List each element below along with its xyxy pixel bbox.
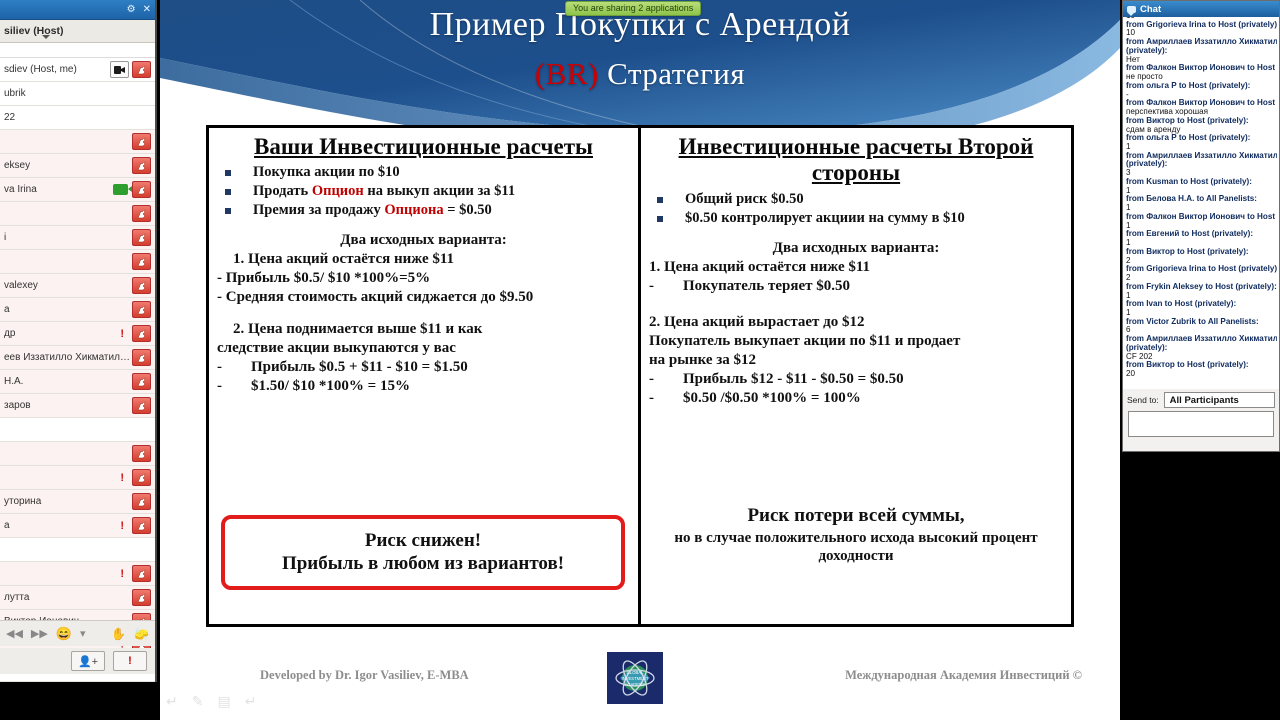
chat-message-from: from Фалкон Виктор Ионович to Host (pri [1126,99,1277,108]
chat-message-from: from Амриллаев Иззатилло Хикматиллое [1126,152,1277,161]
participant-row[interactable]: eksey [0,154,155,178]
chat-message-from: from Ivan to Host (privately): [1126,300,1277,309]
participant-row[interactable]: sdiev (Host, me) [0,58,155,82]
right-variant2-title-a: 2. Цена акций вырастает до $12 [649,313,1063,331]
chat-message-from: from Kusman to Host (privately): [1126,178,1277,187]
alert-button[interactable]: ! [113,651,147,671]
text-icon[interactable]: ▤ [217,693,230,710]
chat-message-from: from Фалкон Виктор Ионович to Host (pri [1126,213,1277,222]
participant-row[interactable] [0,538,155,562]
slide-footer: Developed by Dr. Igor Vasiliev, E-MBA GL… [160,642,1120,702]
raise-hand-icon[interactable] [132,517,151,534]
chat-title: Chat [1140,4,1161,15]
raise-hand-icon[interactable] [132,589,151,606]
left-variant2-line-1-text: $1.50/ $10 *100% = 15% [251,377,410,395]
left-variant1-title: 1. Цена акций остаётся ниже $11 [217,250,630,268]
chat-message-text: 10 [1126,29,1277,38]
dash-marker: - [217,377,251,395]
raise-hand-icon[interactable] [132,277,151,294]
chat-send-to-row: Send to: All Participants [1123,389,1279,411]
chat-message-text: 1 [1126,222,1277,231]
chat-message-from-cont: (privately): [1126,344,1277,353]
chat-message-log[interactable]: 10from Grigorieva Irina to Host (private… [1123,17,1279,389]
chat-message-from: from Виктор to Host (privately): [1126,117,1277,126]
participant-row[interactable]: i [0,226,155,250]
participant-row[interactable] [0,442,155,466]
participant-name: ubrik [4,88,155,99]
bullet-item: Общий риск $0.50 [649,191,1063,208]
send-to-label: Send to: [1127,395,1159,405]
right-variant2-title-c: на рынке за $12 [649,351,1063,369]
right-variant1-line-0: - Покупатель теряет $0.50 [649,277,1063,295]
participant-row[interactable]: a [0,298,155,322]
emoji-caret-icon[interactable]: ▾ [80,627,86,640]
participant-row[interactable] [0,130,155,154]
chat-message-from: from Амриллаев Иззатилло Хикматиллое [1126,335,1277,344]
chat-input[interactable] [1128,411,1274,437]
participant-row[interactable]: еев Иззатилло Хикматил… [0,346,155,370]
bullet-square-icon [225,208,231,214]
chat-message-from: from Grigorieva Irina to Host (privately… [1126,21,1277,30]
raise-hand-icon[interactable] [132,469,151,486]
bullet-item: Продать Опцион на выкуп акции за $11 [217,183,630,200]
chat-message-text: Нет [1126,56,1277,65]
video-on-icon [113,184,128,195]
chat-message-text: не просто [1126,73,1277,82]
participant-name: уторина [4,496,132,507]
eraser-icon[interactable]: 🧽 [134,627,149,641]
academy-logo: GLOBAL INVESTMENT ACADEMY [607,652,663,704]
participant-name: 22 [4,112,155,123]
participants-header: siliev (Host) [0,20,155,43]
camera-icon[interactable] [110,61,129,78]
raise-hand-icon[interactable] [132,253,151,270]
participant-name: др [4,328,120,339]
attention-icon: ! [120,328,124,340]
slide-title-br: (BR) [535,56,599,91]
chat-message-text: сдам в аренду [1126,126,1277,135]
participant-name: valexey [4,280,132,291]
chat-message-from: from Белова Н.А. to All Panelists: [1126,195,1277,204]
left-variant2-title-a: 2. Цена поднимается выше $11 и как [217,320,630,338]
screen-root: ⚙ ✕ siliev (Host) sdiev (Host, me)ubrik2… [0,0,1280,720]
bullet-square-icon [225,170,231,176]
slide-title-strategy: Стратегия [599,56,745,91]
left-column: Ваши Инвестиционные расчеты Покупка акци… [209,128,641,624]
chat-message-from: from Виктор to Host (privately): [1126,361,1277,370]
participant-name: еев Иззатилло Хикматил… [4,352,132,363]
participant-name: а [4,520,120,531]
right-variants-header: Два исходных варианта: [649,240,1063,257]
raise-hand-icon[interactable] [132,349,151,366]
left-variant1-line-1: - Средняя стоимость акций сиджается до $… [217,288,630,306]
participants-header-label: siliev (Host) [4,25,64,37]
raise-hand-icon[interactable] [132,565,151,582]
left-variant2-line-1: - $1.50/ $10 *100% = 15% [217,377,630,395]
footer-developed-by: Developed by Dr. Igor Vasiliev, E-MBA [260,668,469,683]
participant-row[interactable] [0,202,155,226]
dash-marker: - [649,277,683,295]
chat-message-text: 1 [1126,309,1277,318]
participant-row[interactable] [0,250,155,274]
chat-titlebar: Chat [1123,1,1279,17]
participant-row[interactable]: ! [0,466,155,490]
participant-name: eksey [4,160,132,171]
chat-message-text: 1 [1126,187,1277,196]
bullet-text: Продать Опцион на выкуп акции за $11 [253,183,515,200]
bullet-text: Общий риск $0.50 [685,191,804,208]
left-variants-header: Два исходных вариантa: [217,232,630,249]
emoji-icon[interactable]: 😄 [56,626,72,642]
left-column-heading: Ваши Инвестиционные расчеты [217,134,630,160]
chat-message-from: from Grigorieva Irina to Host (privately… [1126,265,1277,274]
chat-message-text: 1 [1126,239,1277,248]
raise-hand-icon[interactable] [132,301,151,318]
bullet-item: Премия за продажу Опциона = $0.50 [217,202,630,219]
chat-message-text: 2 [1126,257,1277,266]
right-column: Инвестиционные расчеты Второй стороны Об… [641,128,1071,624]
raise-hand-icon[interactable] [132,445,151,462]
participant-row[interactable]: valexey [0,274,155,298]
participant-row[interactable]: ubrik [0,82,155,106]
chat-message-from: from Frykin Aleksey to Host (privately): [1126,283,1277,292]
participant-row[interactable]: ! [0,562,155,586]
raise-hand-icon[interactable] [132,493,151,510]
chat-message-text: 20 [1126,370,1277,379]
participant-name: Н.А. [4,376,132,387]
bullet-highlight: Опцион [312,183,364,199]
bullet-square-icon [657,197,663,203]
dash-marker: - [649,389,683,407]
pointer-icon[interactable]: ↵ [166,693,178,710]
attention-icon: ! [120,568,124,580]
participant-name: лутта [4,592,132,603]
chat-message-from: from ольга Р to Host (privately): [1126,82,1277,91]
bullet-square-icon [657,216,663,222]
raise-hand-icon[interactable]: ✋ [111,627,126,641]
participants-list[interactable]: sdiev (Host, me)ubrik22ekseyva Irinaival… [0,58,155,682]
chat-message-from: from Евгений to Host (privately): [1126,230,1277,239]
sharing-banner: You are sharing 2 applications [565,1,701,16]
participant-name: a [4,304,132,315]
annotation-toolbar[interactable]: ↵ ✎ ▤ ↵ [166,693,256,710]
raise-hand-icon[interactable] [132,373,151,390]
left-variant1-line-0: - Прибыль $0.5/ $10 *100%=5% [217,269,630,287]
participant-row[interactable]: Н.А. [0,370,155,394]
right-variant2-line-0-text: Прибыль $12 - $11 - $0.50 = $0.50 [683,370,904,388]
right-column-bullets: Общий риск $0.50$0.50 контролирует акции… [649,191,1063,226]
pen-icon[interactable]: ✎ [192,693,204,710]
slide-content-box: Ваши Инвестиционные расчеты Покупка акци… [206,125,1074,627]
left-variant2-line-0-text: Прибыль $0.5 + $11 - $10 = $1.50 [251,358,468,376]
raise-hand-icon[interactable] [132,157,151,174]
participant-row[interactable]: лутта [0,586,155,610]
send-to-dropdown[interactable]: All Participants [1164,392,1275,408]
right-dark-filler [1122,452,1280,720]
right-variant2-line-0: - Прибыль $12 - $11 - $0.50 = $0.50 [649,370,1063,388]
left-variant2-line-0: - Прибыль $0.5 + $11 - $10 = $1.50 [217,358,630,376]
closing-line2: но в случае положительного исхода высоки… [641,529,1071,567]
chat-message-from-cont: (privately): [1126,47,1277,56]
participant-row[interactable] [0,418,155,442]
participant-row[interactable]: а! [0,514,155,538]
chat-message-from-cont: (privately): [1126,160,1277,169]
svg-text:ACADEMY: ACADEMY [625,682,646,687]
right-variant2-line-1: - $0.50 /$0.50 *100% = 100% [649,389,1063,407]
raise-hand-icon[interactable] [132,61,151,78]
left-variant2-title-b: следствие акции выкупаются у вас [217,339,630,357]
arrow-icon[interactable]: ↵ [245,693,257,710]
participant-row[interactable]: заров [0,394,155,418]
participants-panel: ⚙ ✕ siliev (Host) sdiev (Host, me)ubrik2… [0,0,157,682]
attention-icon: ! [120,520,124,532]
dash-marker: - [217,358,251,376]
right-variant2-title-b: Покупатель выкупает акции по $11 и прода… [649,332,1063,350]
raise-hand-icon[interactable] [132,133,151,150]
raise-hand-icon[interactable] [132,205,151,222]
right-variant1-line-0-text: Покупатель теряет $0.50 [683,277,850,295]
chat-icon [1127,6,1136,13]
chevron-down-icon[interactable] [42,35,50,39]
callout-line1: Риск снижен! [231,529,615,553]
svg-text:INVESTMENT: INVESTMENT [622,676,649,681]
close-icon[interactable]: ✕ [143,5,151,15]
chat-message-from: from Victor Zubrik to All Panelists: [1126,318,1277,327]
raise-hand-icon[interactable] [132,229,151,246]
left-dark-filler [0,682,160,720]
chat-message-from: from Амриллаев Иззатилло Хикматиллое [1126,38,1277,47]
participants-subbar [0,43,155,58]
chat-message-text: 3 [1126,169,1277,178]
callout-line2: Прибыль в любом из вариантов! [231,552,615,576]
next-icon[interactable]: ▶▶ [31,627,48,640]
risk-callout-box: Риск снижен! Прибыль в любом из варианто… [221,515,625,591]
right-column-heading: Инвестиционные расчеты Второй стороны [649,134,1063,187]
right-variant1-title: 1. Цена акций остаётся ниже $11 [649,258,1063,276]
footer-academy: Международная Академия Инвестиций © [845,668,1082,683]
participant-row[interactable]: va Irina [0,178,155,202]
right-variant2-line-1-text: $0.50 /$0.50 *100% = 100% [683,389,861,407]
chat-message-text: 1 [1126,292,1277,301]
bullet-item: Покупка акции по $10 [217,164,630,181]
participant-name: i [4,232,132,243]
participant-name: заров [4,400,132,411]
bullet-highlight: Опциона [384,202,443,218]
bullet-square-icon [225,189,231,195]
bullet-text: Премия за продажу Опциона = $0.50 [253,202,492,219]
raise-hand-icon[interactable] [132,181,151,198]
attention-icon: ! [120,472,124,484]
participant-name: va Irina [4,184,113,195]
participant-row[interactable]: др! [0,322,155,346]
svg-text:GLOBAL: GLOBAL [627,670,644,675]
chat-message-from: from Фалкон Виктор Ионович to Host (pri [1126,64,1277,73]
left-column-bullets: Покупка акции по $10Продать Опцион на вы… [217,164,630,218]
participant-row[interactable]: уторина [0,490,155,514]
chat-message-from: from Виктор to Host (privately): [1126,248,1277,257]
shared-slide: Пример Покупки с Арендой (BR) Стратегия … [160,0,1120,720]
participants-titlebar: ⚙ ✕ [0,0,155,20]
chat-message-text: 6 [1126,326,1277,335]
bullet-text: Покупка акции по $10 [253,164,400,181]
raise-hand-icon[interactable] [132,397,151,414]
closing-line1: Риск потери всей суммы, [641,505,1071,527]
invite-button[interactable]: 👤+ [71,651,105,671]
participants-toolbar: ◀◀ ▶▶ 😄 ▾ ✋ 🧽 [0,620,155,646]
raise-hand-icon[interactable] [132,325,151,342]
chat-message-from: from ольга Р to Host (privately): [1126,134,1277,143]
academy-logo-svg: GLOBAL INVESTMENT ACADEMY [610,655,660,701]
participant-name: sdiev (Host, me) [4,64,110,75]
bullet-text: $0.50 контролирует акциии на сумму в $10 [685,210,965,227]
prev-icon[interactable]: ◀◀ [6,627,23,640]
chat-message-text: - [1126,91,1277,100]
chat-message-text: 1 [1126,204,1277,213]
dash-marker: - [649,370,683,388]
gear-icon[interactable]: ⚙ [127,5,136,15]
chat-panel: Chat 10from Grigorieva Irina to Host (pr… [1122,0,1280,452]
chat-message-text: CF 202 [1126,353,1277,362]
slide-title-line2: (BR) Стратегия [160,56,1120,92]
risk-closing-text: Риск потери всей суммы, но в случае поло… [641,505,1071,567]
bullet-item: $0.50 контролирует акциии на сумму в $10 [649,210,1063,227]
chat-message-text: перспектива хорошая [1126,108,1277,117]
chat-message-text: 1 [1126,143,1277,152]
participants-toolbar-secondary: 👤+ ! [0,648,155,674]
participant-row[interactable]: 22 [0,106,155,130]
chat-message-text: 2 [1126,274,1277,283]
